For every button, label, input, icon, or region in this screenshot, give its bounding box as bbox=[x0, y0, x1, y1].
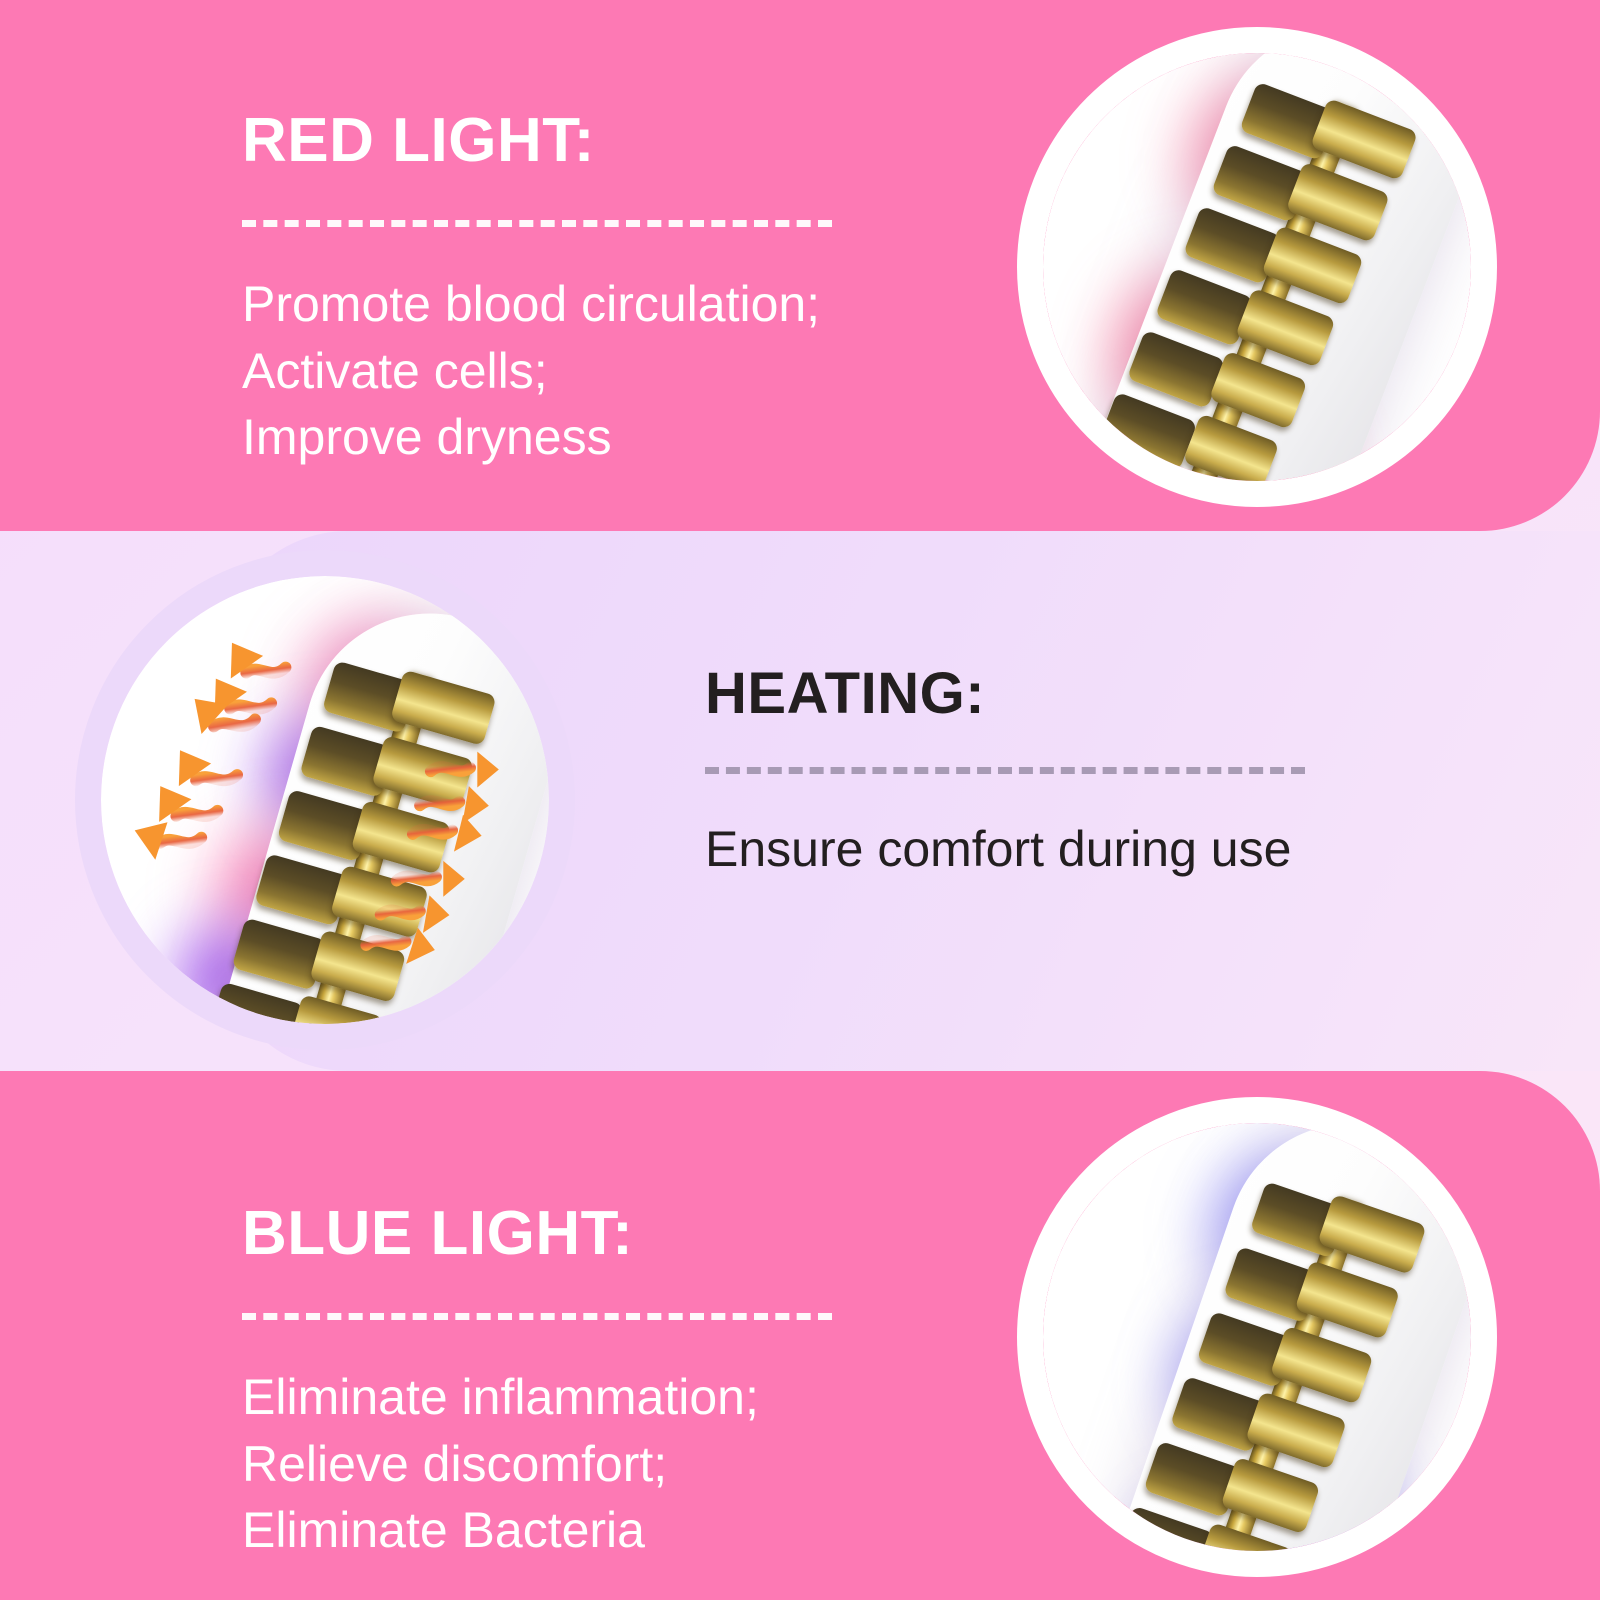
blue-light-body: Eliminate inflammation; Relieve discomfo… bbox=[242, 1364, 842, 1564]
blue-light-product-image bbox=[1017, 1097, 1497, 1577]
red-light-heading: RED LIGHT: bbox=[242, 110, 842, 172]
heat-arrow-left-group bbox=[128, 632, 286, 859]
infographic-page: RED LIGHT: Promote blood circulation; Ac… bbox=[0, 0, 1600, 1600]
heating-divider bbox=[705, 767, 1305, 774]
blue-light-text-block: BLUE LIGHT: Eliminate inflammation; Reli… bbox=[242, 1203, 842, 1564]
red-light-photo-inner bbox=[1043, 53, 1471, 481]
wand-stage-red bbox=[1043, 53, 1471, 481]
red-light-divider bbox=[242, 220, 832, 227]
heating-product-image bbox=[75, 550, 575, 1050]
wand-stage-heating bbox=[101, 576, 549, 1024]
heating-body: Ensure comfort during use bbox=[705, 816, 1315, 883]
blue-light-heading: BLUE LIGHT: bbox=[242, 1203, 842, 1265]
heating-heading: HEATING: bbox=[705, 665, 1315, 723]
red-light-product-image bbox=[1017, 27, 1497, 507]
red-light-text-block: RED LIGHT: Promote blood circulation; Ac… bbox=[242, 110, 842, 471]
heating-text-block: HEATING: Ensure comfort during use bbox=[705, 665, 1315, 883]
wand-stage-blue bbox=[1043, 1123, 1471, 1551]
blue-light-divider bbox=[242, 1313, 832, 1320]
heat-arrow-right-group bbox=[366, 752, 499, 973]
heating-photo-inner bbox=[101, 576, 549, 1024]
heat-arrows bbox=[101, 576, 549, 1024]
blue-light-photo-inner bbox=[1043, 1123, 1471, 1551]
red-light-body: Promote blood circulation; Activate cell… bbox=[242, 271, 842, 471]
